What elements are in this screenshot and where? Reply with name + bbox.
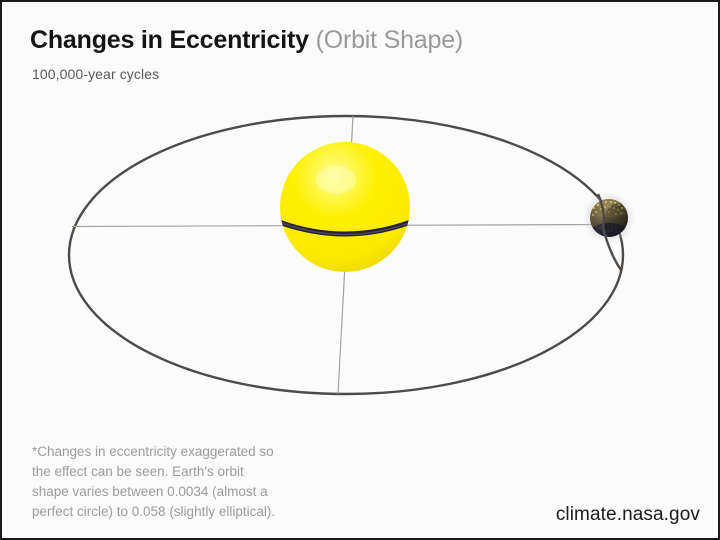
earth-sphere (583, 192, 635, 245)
footnote-line: the effect can be seen. Earth's orbit (32, 462, 362, 482)
sun-sphere (280, 142, 410, 272)
page-title: Changes in Eccentricity (Orbit Shape) (30, 26, 463, 55)
attribution-text: climate.nasa.gov (556, 504, 700, 526)
sun-highlight (316, 166, 356, 194)
page-title-subtext: (Orbit Shape) (316, 26, 463, 54)
page-subtitle: 100,000-year cycles (32, 66, 159, 82)
footnote: *Changes in eccentricity exaggerated so … (32, 442, 362, 522)
footnote-line: *Changes in eccentricity exaggerated so (32, 442, 362, 462)
footnote-line: shape varies between 0.0034 (almost a (32, 482, 362, 502)
page-title-main: Changes in Eccentricity (30, 26, 316, 54)
footnote-line: perfect circle) to 0.058 (slightly ellip… (32, 502, 362, 522)
diagram-canvas: Changes in Eccentricity (Orbit Shape) 10… (0, 0, 720, 540)
